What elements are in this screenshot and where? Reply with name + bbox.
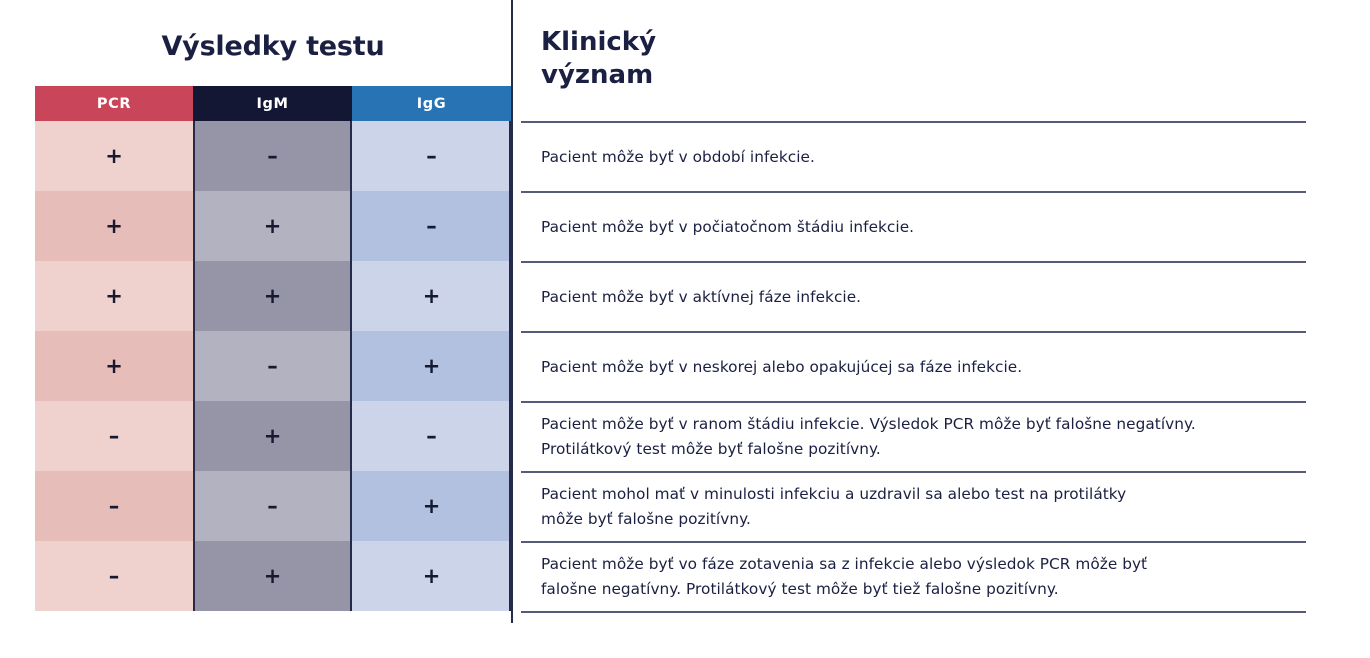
clinical-meaning-text: Pacient mohol mať v minulosti infekciu a… — [541, 482, 1126, 532]
table-row: –++ — [35, 541, 511, 611]
table-row: ++– — [35, 191, 511, 261]
clinical-meaning-row: Pacient môže byť vo fáze zotavenia sa z … — [521, 543, 1306, 613]
result-cell-igm: + — [193, 191, 352, 261]
clinical-meaning-row: Pacient môže byť v počiatočnom štádiu in… — [521, 193, 1306, 263]
table-row: +–– — [35, 121, 511, 191]
clinical-meaning-text: Pacient môže byť v počiatočnom štádiu in… — [541, 215, 914, 240]
clinical-meaning-row: Pacient môže byť v aktívnej fáze infekci… — [521, 263, 1306, 333]
result-cell-igg: – — [352, 191, 511, 261]
result-cell-igm: – — [193, 121, 352, 191]
result-cell-pcr: + — [35, 261, 193, 331]
result-cell-igm: + — [193, 541, 352, 611]
result-cell-pcr: + — [35, 121, 193, 191]
result-cell-igm: – — [193, 331, 352, 401]
clinical-meaning-text: Pacient môže byť v ranom štádiu infekcie… — [541, 412, 1196, 462]
result-cell-igg: + — [352, 261, 511, 331]
result-cell-igg: – — [352, 401, 511, 471]
clinical-meaning-text: Pacient môže byť vo fáze zotavenia sa z … — [541, 552, 1147, 602]
result-cell-igm: – — [193, 471, 352, 541]
column-header-pcr: PCR — [35, 86, 193, 121]
result-cell-igg: – — [352, 121, 511, 191]
result-cell-igm: + — [193, 401, 352, 471]
clinical-meaning-row: Pacient môže byť v ranom štádiu infekcie… — [521, 403, 1306, 473]
test-results-table: PCR IgM IgG +––++–++++–+–+–––+–++ — [35, 86, 511, 611]
result-cell-pcr: + — [35, 191, 193, 261]
result-cell-pcr: – — [35, 401, 193, 471]
clinical-meaning-panel: Klinický význam Pacient môže byť v obdob… — [541, 0, 1306, 658]
table-row: ––+ — [35, 471, 511, 541]
result-cell-igg: + — [352, 331, 511, 401]
result-cell-igg: + — [352, 471, 511, 541]
column-header-igg: IgG — [352, 86, 511, 121]
table-row: +++ — [35, 261, 511, 331]
table-body: +––++–++++–+–+–––+–++ — [35, 121, 511, 611]
results-title: Výsledky testu — [35, 30, 511, 64]
clinical-meaning-text: Pacient môže byť v neskorej alebo opakuj… — [541, 355, 1022, 380]
table-row: –+– — [35, 401, 511, 471]
result-cell-pcr: – — [35, 471, 193, 541]
result-cell-pcr: – — [35, 541, 193, 611]
table-header-row: PCR IgM IgG — [35, 86, 511, 121]
table-row: +–+ — [35, 331, 511, 401]
clinical-meaning-row: Pacient mohol mať v minulosti infekciu a… — [521, 473, 1306, 543]
result-cell-igg: + — [352, 541, 511, 611]
result-cell-igm: + — [193, 261, 352, 331]
panel-divider — [511, 0, 513, 623]
clinical-meaning-text: Pacient môže byť v aktívnej fáze infekci… — [541, 285, 861, 310]
test-results-panel: Výsledky testu PCR IgM IgG +––++–++++–+–… — [35, 0, 511, 658]
clinical-meaning-text: Pacient môže byť v období infekcie. — [541, 145, 815, 170]
column-header-igm: IgM — [193, 86, 352, 121]
clinical-meaning-row: Pacient môže byť v období infekcie. — [521, 123, 1306, 193]
clinical-meaning-list: Pacient môže byť v období infekcie.Pacie… — [521, 121, 1306, 613]
clinical-meaning-title: Klinický význam — [541, 26, 941, 92]
result-cell-pcr: + — [35, 331, 193, 401]
clinical-meaning-row: Pacient môže byť v neskorej alebo opakuj… — [521, 333, 1306, 403]
